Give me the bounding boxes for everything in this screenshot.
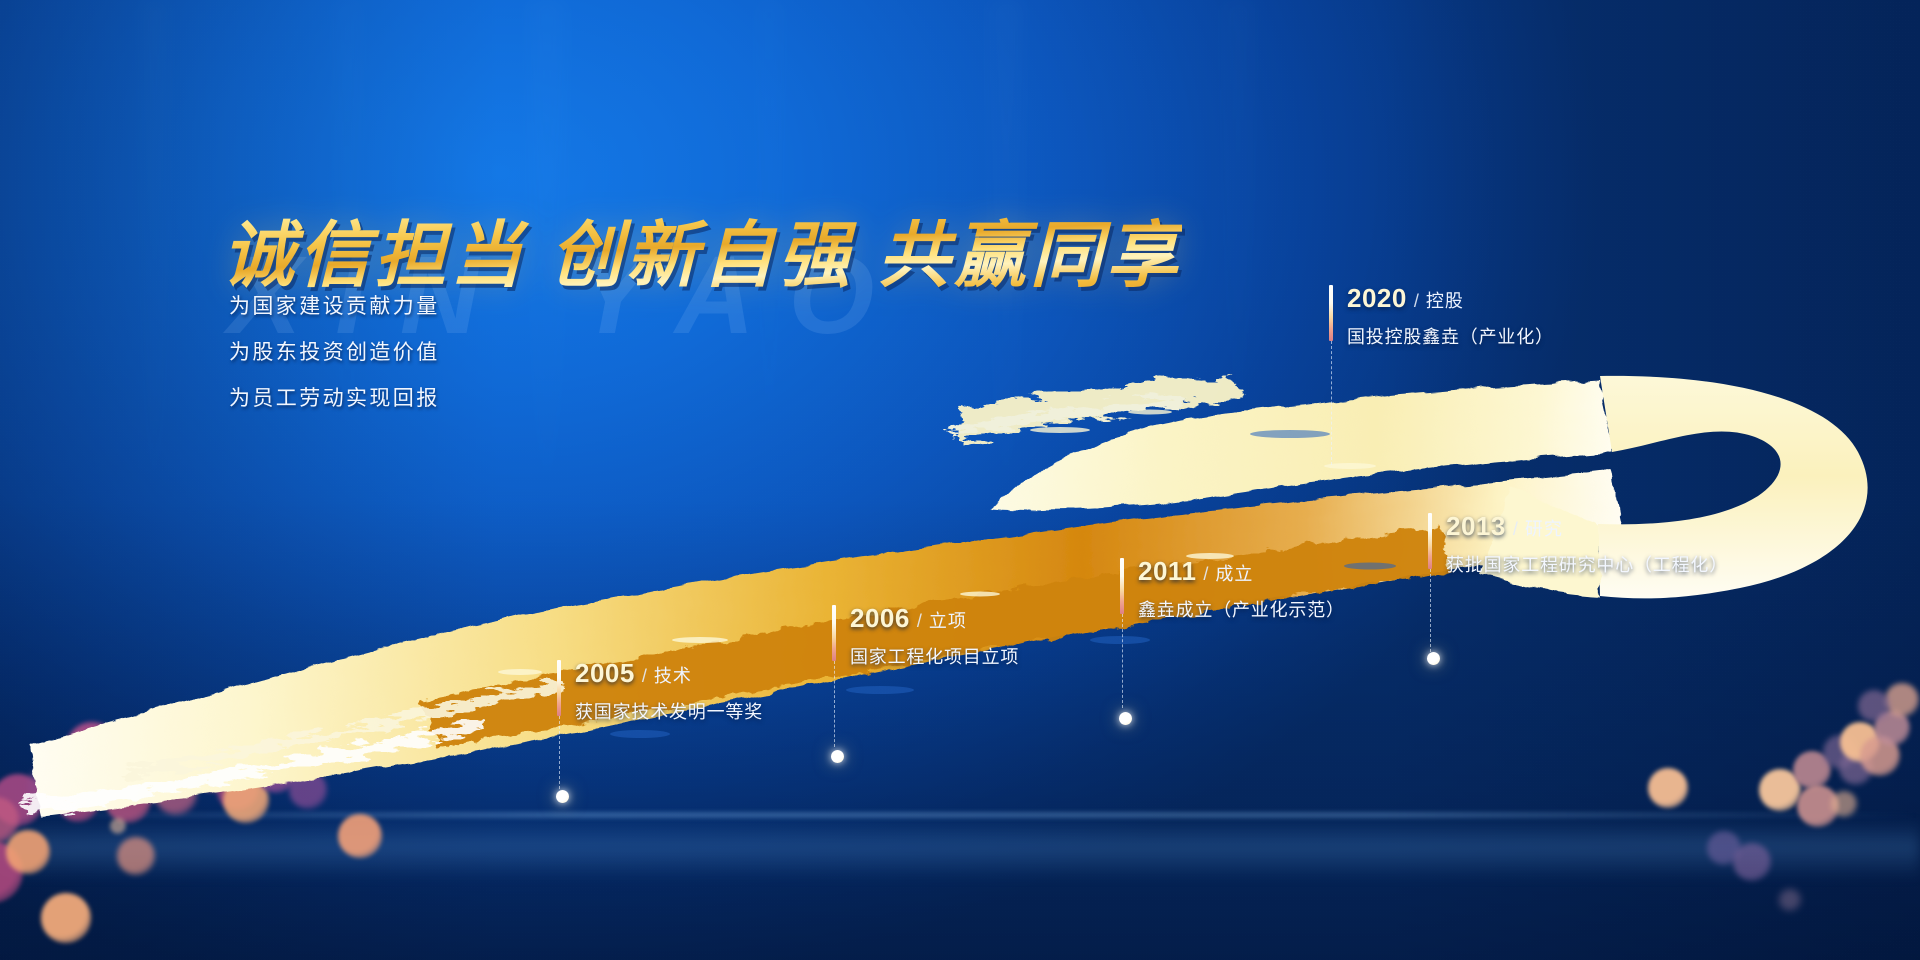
milestone-category: 成立 [1215,565,1253,583]
milestone-dot-marker [1119,712,1132,725]
milestone-year: 2011 [1138,558,1196,584]
milestone-dot-marker [831,750,844,763]
milestone-accent-bar [557,660,561,716]
milestone-dot-marker [1427,652,1440,665]
milestone-category: 立项 [929,612,967,630]
milestone-2020[interactable]: 2020/控股国投控股鑫垚（产业化） [1329,285,1554,349]
milestone-year: 2005 [575,660,635,686]
milestone-separator: / [917,612,922,630]
milestone-leader-line [559,716,560,794]
milestone-accent-bar [1120,558,1124,614]
milestone-separator: / [1414,292,1419,310]
milestone-2013[interactable]: 2013/研究获批国家工程研究中心（工程化） [1428,513,1728,577]
milestone-separator: / [1513,520,1518,538]
milestone-category: 控股 [1426,292,1464,310]
milestone-description: 获国家技术发明一等奖 [575,698,763,724]
milestone-leader-line [1430,569,1431,657]
milestone-2005[interactable]: 2005/技术获国家技术发明一等奖 [557,660,763,724]
milestone-description: 获批国家工程研究中心（工程化） [1446,551,1728,577]
milestone-year: 2013 [1446,513,1506,539]
milestone-accent-bar [1428,513,1432,569]
milestone-separator: / [642,667,647,685]
milestone-category: 研究 [1525,520,1563,538]
tagline-1: 为国家建设贡献力量 [229,290,440,320]
milestone-description: 国投控股鑫垚（产业化） [1347,323,1554,349]
tagline-2: 为股东投资创造价值 [229,336,440,366]
milestone-leader-line [834,661,835,747]
milestone-separator: / [1203,565,1208,583]
brush-stroke-ribbon [0,0,1920,960]
tagline-3: 为员工劳动实现回报 [229,382,440,412]
milestone-description: 国家工程化项目立项 [850,643,1019,669]
milestone-accent-bar [1329,285,1333,341]
milestone-year: 2020 [1347,285,1407,311]
banner-canvas: XIN YAO 诚信担当 创新自强 共赢同享 为国家建设贡献力量 为股东投资创造… [0,0,1920,960]
milestone-accent-bar [832,605,836,661]
milestone-2011[interactable]: 2011/成立鑫垚成立（产业化示范） [1120,558,1345,622]
milestone-leader-line [1331,341,1332,465]
milestone-year: 2006 [850,605,910,631]
milestone-2006[interactable]: 2006/立项国家工程化项目立项 [832,605,1019,669]
page-title: 诚信担当 创新自强 共赢同享 [222,196,1182,301]
milestone-leader-line [1122,614,1123,708]
milestone-dot-marker [556,790,569,803]
milestone-description: 鑫垚成立（产业化示范） [1138,596,1345,622]
milestone-category: 技术 [654,667,692,685]
